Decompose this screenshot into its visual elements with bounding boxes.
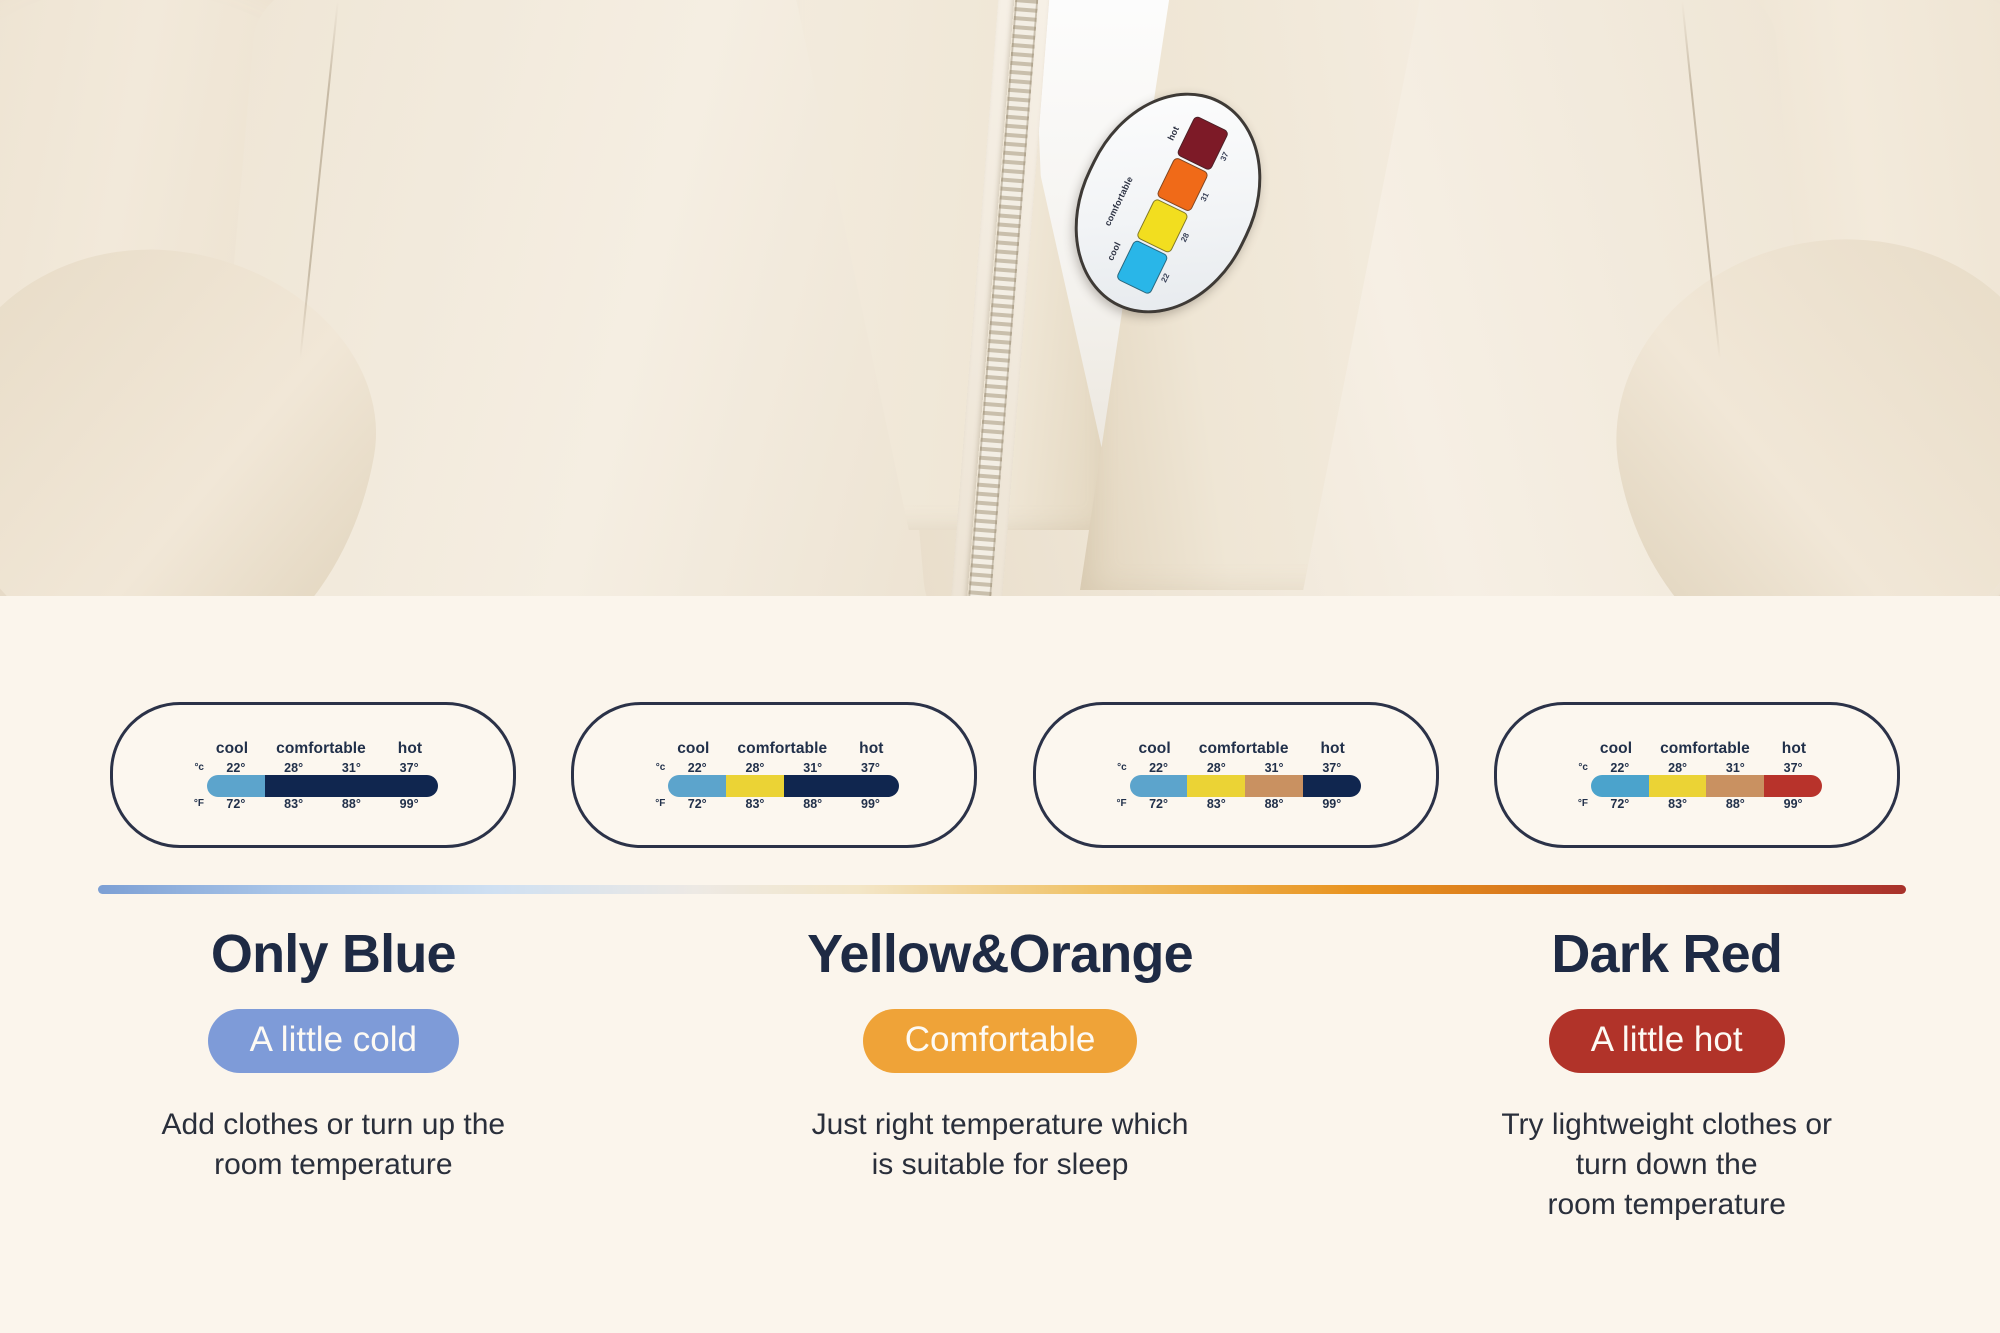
- legend-c-tick: 22°: [207, 761, 265, 775]
- thermometer-number-22: 22: [1159, 272, 1171, 284]
- legend-fahrenheit-row: °F 72° 83° 88° 99°: [1111, 797, 1361, 811]
- legend-segment-cool: [1591, 775, 1649, 797]
- legend-zone-headers: cool comfortable hot: [1127, 740, 1361, 758]
- infographic-page: cool comfortable hot 22 28 31 37: [0, 0, 2000, 1333]
- legend-header-cool: cool: [1127, 740, 1183, 758]
- state-column-dark-red: Dark Red A little hot Try lightweight cl…: [1333, 926, 2000, 1225]
- legend-segment-comfortable: [726, 775, 784, 797]
- state-columns: Only Blue A little cold Add clothes or t…: [0, 926, 2000, 1225]
- legend-f-tick: 88°: [784, 797, 842, 811]
- legend-celsius-row: °c 22° 28° 31° 37°: [1572, 761, 1822, 775]
- legend-f-tick: 88°: [1706, 797, 1764, 811]
- legend-segment-comfortable: [1649, 775, 1707, 797]
- legend-color-bar: [207, 775, 438, 797]
- legend-card-blue-yellow: cool comfortable hot °c 22° 28° 31° 37°: [571, 702, 977, 848]
- thermometer-number-31: 31: [1199, 191, 1211, 203]
- state-pill-a-little-cold: A little cold: [208, 1009, 459, 1073]
- legend-f-tick: 99°: [380, 797, 438, 811]
- legend-card-only-blue: cool comfortable hot °c 22° 28° 31° 37°: [110, 702, 516, 848]
- legend-header-comfortable: comfortable: [1183, 740, 1305, 758]
- legend-unit-celsius: °c: [188, 762, 207, 773]
- legend-card-row: cool comfortable hot °c 22° 28° 31° 37°: [110, 702, 1900, 848]
- legend-f-tick: 83°: [726, 797, 784, 811]
- legend-c-tick: 37°: [1303, 761, 1361, 775]
- legend-unit-fahrenheit: °F: [1111, 798, 1130, 809]
- legend-header-cool: cool: [665, 740, 721, 758]
- legend-header-comfortable: comfortable: [721, 740, 843, 758]
- legend-c-tick: 28°: [1649, 761, 1707, 775]
- legend-unit-fahrenheit: °F: [649, 798, 668, 809]
- legend-f-tick: 99°: [842, 797, 900, 811]
- state-description: Just right temperature which is suitable…: [740, 1105, 1260, 1185]
- state-pill-a-little-hot: A little hot: [1549, 1009, 1785, 1073]
- legend-c-tick: 37°: [1764, 761, 1822, 775]
- legend-segment-cool: [668, 775, 726, 797]
- legend-segment-warm: [1706, 775, 1764, 797]
- state-pill-comfortable: Comfortable: [863, 1009, 1138, 1073]
- legend-c-tick: 22°: [1130, 761, 1188, 775]
- legend-f-tick: 99°: [1764, 797, 1822, 811]
- legend-zone-headers: cool comfortable hot: [1588, 740, 1822, 758]
- legend-unit-celsius: °c: [649, 762, 668, 773]
- legend-header-hot: hot: [1305, 740, 1361, 758]
- thermometer-label-cool: cool: [1105, 240, 1122, 262]
- legend-f-tick: 83°: [1649, 797, 1707, 811]
- legend-segment-hot: [1303, 775, 1361, 797]
- legend-segment-hot: [1764, 775, 1822, 797]
- thermometer-number-37: 37: [1219, 151, 1231, 163]
- legend-celsius-row: °c 22° 28° 31° 37°: [1111, 761, 1361, 775]
- legend-c-tick: 22°: [1591, 761, 1649, 775]
- legend-color-bar: [668, 775, 899, 797]
- legend-unit-fahrenheit: °F: [1572, 798, 1591, 809]
- legend-c-tick: 22°: [668, 761, 726, 775]
- state-description: Try lightweight clothes or turn down the…: [1407, 1105, 1927, 1225]
- legend-info-panel: cool comfortable hot °c 22° 28° 31° 37°: [0, 596, 2000, 1333]
- legend-c-tick: 31°: [1706, 761, 1764, 775]
- legend-c-tick: 31°: [1245, 761, 1303, 775]
- legend-c-tick: 31°: [323, 761, 381, 775]
- state-description: Add clothes or turn up the room temperat…: [73, 1105, 593, 1185]
- state-title: Only Blue: [28, 926, 639, 983]
- legend-celsius-row: °c 22° 28° 31° 37°: [649, 761, 899, 775]
- legend-unit-celsius: °c: [1572, 762, 1591, 773]
- legend-color-bar: [1591, 775, 1822, 797]
- legend-card-blue-yellow-orange: cool comfortable hot °c 22° 28° 31° 37°: [1033, 702, 1439, 848]
- legend-segment-hot: [842, 775, 900, 797]
- legend-header-hot: hot: [382, 740, 438, 758]
- state-title: Dark Red: [1361, 926, 1972, 983]
- legend-segment-cool: [1130, 775, 1188, 797]
- legend-card-blue-yellow-orange-red: cool comfortable hot °c 22° 28° 31° 37°: [1494, 702, 1900, 848]
- legend-segment-warm: [784, 775, 842, 797]
- legend-c-tick: 37°: [842, 761, 900, 775]
- legend-fahrenheit-row: °F 72° 83° 88° 99°: [649, 797, 899, 811]
- legend-segment-comfortable: [1187, 775, 1245, 797]
- legend-segment-cool: [207, 775, 265, 797]
- legend-f-tick: 83°: [1187, 797, 1245, 811]
- legend-segment-hot: [380, 775, 438, 797]
- legend-header-cool: cool: [204, 740, 260, 758]
- legend-zone-headers: cool comfortable hot: [665, 740, 899, 758]
- legend-fahrenheit-row: °F 72° 83° 88° 99°: [1572, 797, 1822, 811]
- legend-unit-celsius: °c: [1111, 762, 1130, 773]
- legend-header-cool: cool: [1588, 740, 1644, 758]
- state-column-only-blue: Only Blue A little cold Add clothes or t…: [0, 926, 667, 1225]
- hero-product-photo: cool comfortable hot 22 28 31 37: [0, 0, 2000, 596]
- legend-c-tick: 28°: [265, 761, 323, 775]
- legend-unit-fahrenheit: °F: [188, 798, 207, 809]
- legend-celsius-row: °c 22° 28° 31° 37°: [188, 761, 438, 775]
- legend-c-tick: 31°: [784, 761, 842, 775]
- legend-f-tick: 72°: [668, 797, 726, 811]
- temperature-gradient-divider: [98, 885, 1906, 894]
- legend-header-hot: hot: [843, 740, 899, 758]
- legend-color-bar: [1130, 775, 1361, 797]
- legend-f-tick: 88°: [1245, 797, 1303, 811]
- legend-zone-headers: cool comfortable hot: [204, 740, 438, 758]
- legend-header-comfortable: comfortable: [260, 740, 382, 758]
- legend-c-tick: 28°: [726, 761, 784, 775]
- thermometer-label-comfortable: comfortable: [1103, 175, 1136, 228]
- legend-f-tick: 88°: [323, 797, 381, 811]
- state-column-yellow-orange: Yellow&Orange Comfortable Just right tem…: [667, 926, 1334, 1225]
- legend-segment-warm: [1245, 775, 1303, 797]
- state-title: Yellow&Orange: [695, 926, 1306, 983]
- legend-f-tick: 99°: [1303, 797, 1361, 811]
- legend-segment-comfortable: [265, 775, 323, 797]
- legend-f-tick: 83°: [265, 797, 323, 811]
- thermometer-number-28: 28: [1179, 231, 1191, 243]
- legend-header-hot: hot: [1766, 740, 1822, 758]
- legend-c-tick: 37°: [380, 761, 438, 775]
- legend-f-tick: 72°: [1130, 797, 1188, 811]
- legend-fahrenheit-row: °F 72° 83° 88° 99°: [188, 797, 438, 811]
- legend-header-comfortable: comfortable: [1644, 740, 1766, 758]
- legend-c-tick: 28°: [1187, 761, 1245, 775]
- legend-segment-warm: [323, 775, 381, 797]
- legend-f-tick: 72°: [207, 797, 265, 811]
- legend-f-tick: 72°: [1591, 797, 1649, 811]
